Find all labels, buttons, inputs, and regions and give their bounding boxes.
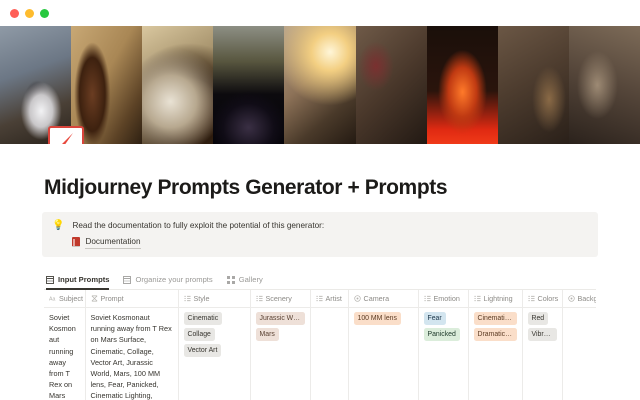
tag: 100 MM lens: [354, 312, 401, 325]
tag: Jurassic Wo...: [256, 312, 305, 325]
cover-tile-6: [356, 26, 427, 144]
column-header-lightning[interactable]: Lightning: [468, 290, 522, 308]
table-header-row: Aa Subject Prompt Style Scenery: [44, 290, 596, 308]
column-header-style[interactable]: Style: [178, 290, 250, 308]
tag: Panicked: [424, 328, 460, 341]
column-header-scenery[interactable]: Scenery: [250, 290, 310, 308]
page-icon[interactable]: [48, 126, 84, 144]
column-label: Style: [194, 294, 210, 303]
maximize-button[interactable]: [40, 9, 49, 18]
database-view-tabs: Input Prompts Organize your prompts Gall…: [44, 275, 596, 290]
cover-tile-7: [427, 26, 498, 144]
column-label: Emotion: [434, 294, 460, 303]
cell-emotion[interactable]: FearPanicked: [418, 308, 468, 400]
tag: Cinematic: [184, 312, 223, 325]
column-label: Lightning: [484, 294, 513, 303]
column-label: Camera: [364, 294, 390, 303]
cover-tile-8: [498, 26, 569, 144]
callout-text: Read the documentation to fully exploit …: [72, 219, 324, 232]
select-icon: [424, 295, 431, 302]
column-header-background-colors[interactable]: Background Colors: [562, 290, 596, 308]
column-header-artist[interactable]: Artist: [310, 290, 348, 308]
tab-gallery[interactable]: Gallery: [227, 275, 263, 289]
select-icon: [316, 295, 323, 302]
cell-lightning[interactable]: Cinematic ...Dramatic L...: [468, 308, 522, 400]
tag: Cinematic ...: [474, 312, 517, 325]
cell-artist[interactable]: [310, 308, 348, 400]
window-titlebar: [0, 0, 640, 26]
documentation-link[interactable]: Documentation: [72, 235, 324, 249]
minimize-button[interactable]: [25, 9, 34, 18]
select-icon: [528, 295, 535, 302]
tag: Dramatic L...: [474, 328, 517, 341]
page-body: Midjourney Prompts Generator + Prompts 💡…: [0, 144, 640, 400]
documentation-callout: 💡 Read the documentation to fully exploi…: [42, 212, 598, 257]
column-label: Artist: [326, 294, 342, 303]
tag: Collage: [184, 328, 215, 341]
column-header-colors[interactable]: Colors: [522, 290, 562, 308]
tag: Vector Art: [184, 344, 222, 357]
tab-gallery-label: Gallery: [239, 275, 263, 284]
column-header-subject[interactable]: Aa Subject: [44, 290, 85, 308]
cover-tile-4: [213, 26, 284, 144]
text-icon: Aa: [49, 295, 56, 302]
status-icon: [568, 295, 575, 302]
table-row[interactable]: Soviet Kosmonaut running away from T Rex…: [44, 308, 596, 400]
tab-organize-your-prompts[interactable]: Organize your prompts: [123, 275, 212, 289]
cell-style[interactable]: CinematicCollageVector Art: [178, 308, 250, 400]
formula-icon: [91, 295, 98, 302]
column-header-camera[interactable]: Camera: [348, 290, 418, 308]
page-cover-image: [0, 26, 640, 144]
column-label: Colors: [538, 294, 559, 303]
app-window: Midjourney Prompts Generator + Prompts 💡…: [0, 0, 640, 400]
column-label: Subject: [59, 294, 83, 303]
gallery-icon: [227, 276, 235, 284]
cell-scenery[interactable]: Jurassic Wo...Mars: [250, 308, 310, 400]
tab-input-prompts[interactable]: Input Prompts: [46, 275, 109, 289]
status-icon: [354, 295, 361, 302]
cell-subject[interactable]: Soviet Kosmonaut running away from T Rex…: [44, 308, 85, 400]
page-title: Midjourney Prompts Generator + Prompts: [44, 176, 596, 200]
column-label: Prompt: [101, 294, 124, 303]
cell-background-colors[interactable]: [562, 308, 596, 400]
tab-input-prompts-label: Input Prompts: [58, 275, 109, 284]
svg-text:Aa: Aa: [49, 296, 56, 302]
prompts-table: Aa Subject Prompt Style Scenery: [44, 290, 596, 400]
tag: Mars: [256, 328, 279, 341]
cell-prompt[interactable]: Soviet Kosmonaut running away from T Rex…: [85, 308, 178, 400]
select-icon: [474, 295, 481, 302]
cell-camera[interactable]: 100 MM lens: [348, 308, 418, 400]
column-label: Background Colors: [578, 294, 597, 303]
table-body: Soviet Kosmonaut running away from T Rex…: [44, 308, 596, 400]
tag: Red: [528, 312, 549, 325]
close-button[interactable]: [10, 9, 19, 18]
column-header-emotion[interactable]: Emotion: [418, 290, 468, 308]
tab-organize-label: Organize your prompts: [135, 275, 212, 284]
tag: Fear: [424, 312, 446, 325]
pen-nib-icon: [56, 132, 76, 144]
cell-colors[interactable]: RedVibrant C...: [522, 308, 562, 400]
book-icon: [72, 237, 80, 247]
documentation-link-label: Documentation: [85, 235, 140, 249]
lightbulb-icon: 💡: [52, 219, 64, 232]
cover-tile-5: [284, 26, 355, 144]
grid-icon: [123, 276, 131, 284]
grid-icon: [46, 276, 54, 284]
cover-tile-9: [569, 26, 640, 144]
select-icon: [256, 295, 263, 302]
column-label: Scenery: [266, 294, 292, 303]
column-header-prompt[interactable]: Prompt: [85, 290, 178, 308]
cover-tile-3: [142, 26, 213, 144]
tag: Vibrant C...: [528, 328, 557, 341]
select-icon: [184, 295, 191, 302]
